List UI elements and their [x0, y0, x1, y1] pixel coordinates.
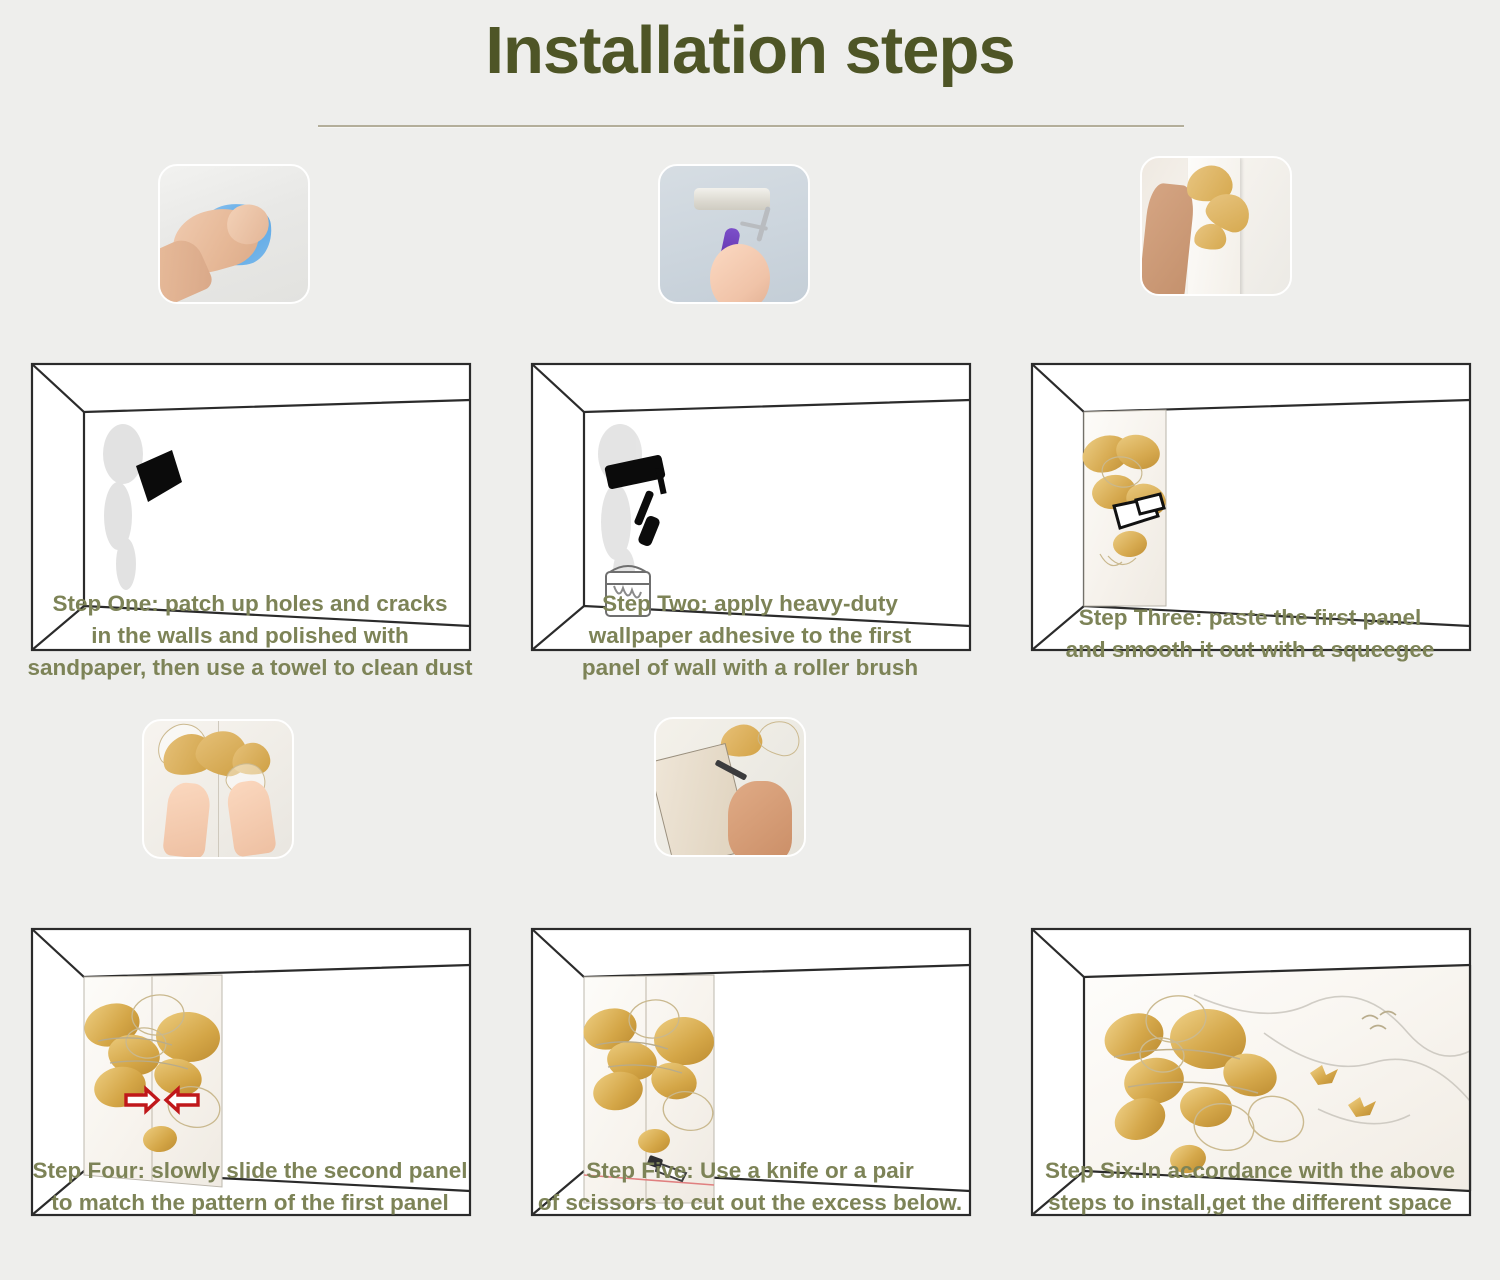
step-card-four: Step Four: slowly slide the second panel… — [0, 715, 500, 1280]
hand-shape — [728, 781, 792, 855]
caption-line: Step Three: paste the first panel — [1000, 602, 1500, 634]
step-card-six: Step Six:In accordance with the above st… — [1000, 715, 1500, 1280]
two-hands-smoothing-photo — [142, 719, 294, 859]
hand-wiping-towel-photo — [158, 164, 310, 304]
steps-row-top: Step One: patch up holes and cracks in t… — [0, 150, 1500, 715]
step-caption-six: Step Six:In accordance with the above st… — [1000, 1155, 1500, 1219]
roller-sleeve-shape — [694, 188, 770, 210]
right-hand-shape — [225, 778, 277, 857]
step-caption-one: Step One: patch up holes and cracks in t… — [0, 588, 500, 684]
caption-line: of scissors to cut out the excess below. — [500, 1187, 1000, 1219]
left-hand-shape — [162, 781, 212, 857]
caption-line: Step Four: slowly slide the second panel — [0, 1155, 500, 1187]
caption-line: panel of wall with a roller brush — [500, 652, 1000, 684]
hand-shape — [710, 244, 770, 302]
steps-row-bottom: Step Four: slowly slide the second panel… — [0, 715, 1500, 1280]
caption-line: and smooth it out with a squeegee — [1000, 634, 1500, 666]
caption-line: Step Six:In accordance with the above — [1000, 1155, 1500, 1187]
room-diagram-three — [1018, 254, 1484, 654]
page-title: Installation steps — [0, 6, 1500, 96]
pasting-panel-photo — [1140, 156, 1292, 296]
step-card-two: Step Two: apply heavy-duty wallpaper adh… — [500, 150, 1000, 715]
caption-line: Step Five: Use a knife or a pair — [500, 1155, 1000, 1187]
ginkgo-leaf-outline — [755, 719, 803, 759]
caption-line: Step One: patch up holes and cracks — [0, 588, 500, 620]
caption-line: to match the pattern of the first panel — [0, 1187, 500, 1219]
steps-grid: Step One: patch up holes and cracks in t… — [0, 150, 1500, 1280]
paint-roller-photo — [658, 164, 810, 304]
utility-knife-cutting-photo — [654, 717, 806, 857]
caption-line: in the walls and polished with — [0, 620, 500, 652]
step-card-three: Step Three: paste the first panel and sm… — [1000, 150, 1500, 715]
step-card-one: Step One: patch up holes and cracks in t… — [0, 150, 500, 715]
caption-line: wallpaper adhesive to the first — [500, 620, 1000, 652]
installation-steps-infographic: Installation steps — [0, 0, 1500, 1263]
title-divider — [318, 125, 1184, 127]
step-caption-four: Step Four: slowly slide the second panel… — [0, 1155, 500, 1219]
step-caption-two: Step Two: apply heavy-duty wallpaper adh… — [500, 588, 1000, 684]
caption-line: sandpaper, then use a towel to clean dus… — [0, 652, 500, 684]
caption-line: Step Two: apply heavy-duty — [500, 588, 1000, 620]
caption-line: steps to install,get the different space — [1000, 1187, 1500, 1219]
step-card-five: Step Five: Use a knife or a pair of scis… — [500, 715, 1000, 1280]
step-caption-five: Step Five: Use a knife or a pair of scis… — [500, 1155, 1000, 1219]
step-caption-three: Step Three: paste the first panel and sm… — [1000, 602, 1500, 666]
